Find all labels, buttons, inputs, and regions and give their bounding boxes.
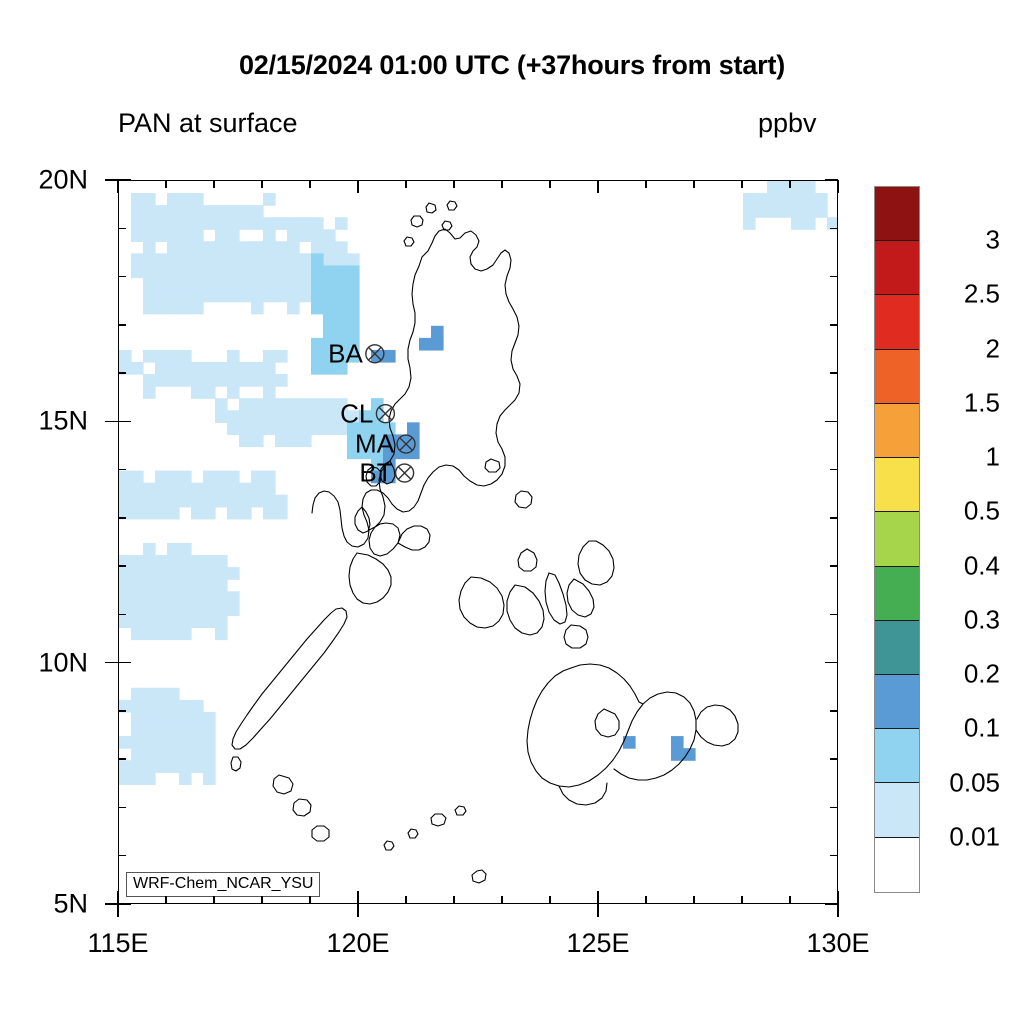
x-tick-major xyxy=(597,891,599,904)
x-tick-minor xyxy=(501,896,503,904)
y-tick-minor xyxy=(830,710,838,712)
y-axis-label: 10N xyxy=(38,647,88,678)
y-tick-major xyxy=(118,903,131,905)
x-tick-major xyxy=(837,180,839,193)
x-tick-minor xyxy=(789,180,791,188)
y-tick-minor xyxy=(830,807,838,809)
y-tick-minor xyxy=(118,469,126,471)
colorbar-band[interactable] xyxy=(875,350,919,404)
y-tick-major xyxy=(825,421,838,423)
y-tick-major xyxy=(825,179,838,181)
x-tick-minor xyxy=(645,180,647,188)
station-label-ma: MA xyxy=(355,429,394,460)
colorbar-tick-label: 0.4 xyxy=(964,550,1000,581)
y-tick-minor xyxy=(830,758,838,760)
colorbar-tick-label: 0.5 xyxy=(964,496,1000,527)
y-tick-minor xyxy=(118,565,126,567)
y-tick-minor xyxy=(118,614,126,616)
x-tick-minor xyxy=(453,180,455,188)
colorbar-tick-label: 0.1 xyxy=(964,713,1000,744)
circle-x-marker xyxy=(397,435,415,453)
station-label-cl: CL xyxy=(340,398,373,429)
colorbar-band[interactable] xyxy=(875,404,919,458)
x-tick-minor xyxy=(309,896,311,904)
model-annotation: WRF-Chem_NCAR_YSU xyxy=(126,872,320,897)
x-tick-minor xyxy=(693,180,695,188)
colorbar-tick-label: 3 xyxy=(986,225,1000,256)
colorbar-band[interactable] xyxy=(875,783,919,837)
colorbar-band[interactable] xyxy=(875,621,919,675)
circle-x-marker xyxy=(366,345,384,363)
y-tick-minor xyxy=(118,324,126,326)
colorbar-tick-label: 0.2 xyxy=(964,659,1000,690)
y-tick-minor xyxy=(118,758,126,760)
x-tick-major xyxy=(357,891,359,904)
y-tick-minor xyxy=(830,372,838,374)
colorbar-tick-label: 2.5 xyxy=(964,279,1000,310)
x-tick-major xyxy=(837,891,839,904)
y-tick-major xyxy=(825,903,838,905)
x-tick-minor xyxy=(213,180,215,188)
y-tick-minor xyxy=(830,228,838,230)
station-markers xyxy=(119,181,838,904)
colorbar-band[interactable] xyxy=(875,187,919,241)
y-tick-minor xyxy=(830,324,838,326)
y-tick-major-outer xyxy=(105,421,118,423)
map-plot-area[interactable]: WRF-Chem_NCAR_YSU BACLMABT xyxy=(118,180,838,904)
y-tick-major xyxy=(825,662,838,664)
y-tick-minor xyxy=(118,710,126,712)
colorbar-tick-label: 0.05 xyxy=(949,767,1000,798)
x-tick-major xyxy=(597,180,599,193)
colorbar-tick-label: 1.5 xyxy=(964,387,1000,418)
colorbar-band[interactable] xyxy=(875,675,919,729)
x-axis-label: 115E xyxy=(87,928,148,959)
colorbar[interactable] xyxy=(874,186,920,893)
colorbar-band[interactable] xyxy=(875,512,919,566)
y-tick-minor xyxy=(118,855,126,857)
y-tick-major-outer xyxy=(105,903,118,905)
circle-x-marker xyxy=(396,464,414,482)
variable-label: PAN at surface xyxy=(118,108,298,139)
colorbar-band[interactable] xyxy=(875,458,919,512)
x-tick-major-outer xyxy=(117,904,119,917)
y-tick-minor xyxy=(118,517,126,519)
y-tick-minor xyxy=(118,228,126,230)
colorbar-band[interactable] xyxy=(875,729,919,783)
x-tick-major xyxy=(117,891,119,904)
x-tick-minor xyxy=(405,180,407,188)
colorbar-band[interactable] xyxy=(875,295,919,349)
x-axis-label: 125E xyxy=(566,928,629,959)
y-tick-major xyxy=(118,421,131,423)
station-label-bt: BT xyxy=(359,458,392,489)
x-tick-major xyxy=(117,180,119,193)
x-tick-minor xyxy=(261,896,263,904)
x-tick-major xyxy=(357,180,359,193)
x-tick-minor xyxy=(309,180,311,188)
y-tick-major-outer xyxy=(105,179,118,181)
colorbar-tick-label: 2 xyxy=(986,333,1000,364)
y-tick-minor xyxy=(118,372,126,374)
colorbar-tick-label: 0.01 xyxy=(949,821,1000,852)
x-tick-minor xyxy=(453,896,455,904)
x-tick-major-outer xyxy=(837,904,839,917)
colorbar-tick-label: 1 xyxy=(986,442,1000,473)
x-tick-minor xyxy=(645,896,647,904)
x-tick-minor xyxy=(693,896,695,904)
x-tick-minor xyxy=(261,180,263,188)
y-axis-label: 15N xyxy=(38,406,88,437)
x-tick-major-outer xyxy=(357,904,359,917)
y-tick-minor xyxy=(830,469,838,471)
x-axis-label: 130E xyxy=(806,928,869,959)
x-tick-minor xyxy=(405,896,407,904)
y-tick-minor xyxy=(830,517,838,519)
x-tick-major-outer xyxy=(597,904,599,917)
x-tick-minor xyxy=(501,180,503,188)
y-tick-minor xyxy=(830,276,838,278)
x-tick-minor xyxy=(741,180,743,188)
x-tick-minor xyxy=(165,180,167,188)
x-axis-label: 120E xyxy=(326,928,389,959)
colorbar-tick-label: 0.3 xyxy=(964,604,1000,635)
y-tick-minor xyxy=(118,807,126,809)
y-axis-label: 20N xyxy=(38,165,88,196)
x-tick-minor xyxy=(789,896,791,904)
colorbar-band[interactable] xyxy=(875,838,919,892)
colorbar-band[interactable] xyxy=(875,241,919,295)
y-tick-major-outer xyxy=(105,662,118,664)
y-tick-minor xyxy=(830,565,838,567)
y-tick-minor xyxy=(830,855,838,857)
page-title: 02/15/2024 01:00 UTC (+37hours from star… xyxy=(0,50,1024,81)
x-tick-minor xyxy=(549,180,551,188)
y-axis-label: 5N xyxy=(53,889,88,920)
x-tick-minor xyxy=(549,896,551,904)
x-tick-minor xyxy=(165,896,167,904)
x-tick-minor xyxy=(213,896,215,904)
station-label-ba: BA xyxy=(328,338,363,369)
y-tick-minor xyxy=(830,614,838,616)
y-tick-major xyxy=(118,179,131,181)
x-tick-minor xyxy=(741,896,743,904)
colorbar-band[interactable] xyxy=(875,567,919,621)
y-tick-minor xyxy=(118,276,126,278)
circle-x-marker xyxy=(376,405,394,423)
units-label: ppbv xyxy=(758,108,817,139)
y-tick-major xyxy=(118,662,131,664)
